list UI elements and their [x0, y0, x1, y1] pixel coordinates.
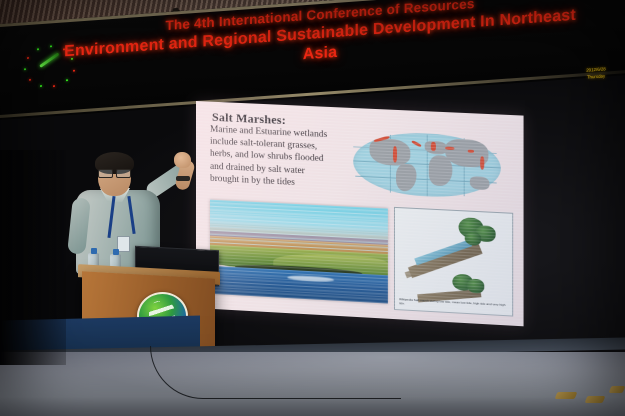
map-land-australia — [470, 176, 490, 190]
glasses-icon — [98, 169, 130, 176]
diagram-caption: Wikipedia Salt marsh during low tide, me… — [399, 297, 508, 312]
photo-scanline-artifact — [210, 200, 388, 253]
left-shadow — [0, 150, 66, 365]
tidal-zonation-diagram: Wikipedia Salt marsh during low tide, me… — [394, 207, 513, 317]
map-highlight-range — [468, 150, 474, 153]
name-badge — [117, 236, 130, 252]
conference-hall-photo: The 4th International Conference of Reso… — [0, 0, 625, 416]
map-highlight-range — [445, 147, 454, 150]
power-cable — [150, 346, 401, 399]
world-map — [347, 122, 507, 209]
map-highlight-range — [393, 146, 397, 162]
diagram-vegetation — [467, 278, 485, 293]
map-highlight-range — [431, 142, 436, 151]
slide-body-text: Marine and Estuarine wetlands include sa… — [210, 124, 333, 191]
wristwatch — [176, 176, 190, 181]
floor-glint — [609, 386, 625, 393]
speaker-hand — [174, 152, 191, 168]
floor-glint — [585, 396, 606, 403]
floor-glint — [555, 392, 578, 399]
map-highlight-range — [480, 156, 484, 169]
clock-hand-icon — [39, 52, 59, 67]
diagram-vegetation — [465, 232, 481, 246]
salt-marsh-photo — [210, 200, 388, 304]
projection-screen: Salt Marshes: Marine and Estuarine wetla… — [196, 101, 524, 326]
